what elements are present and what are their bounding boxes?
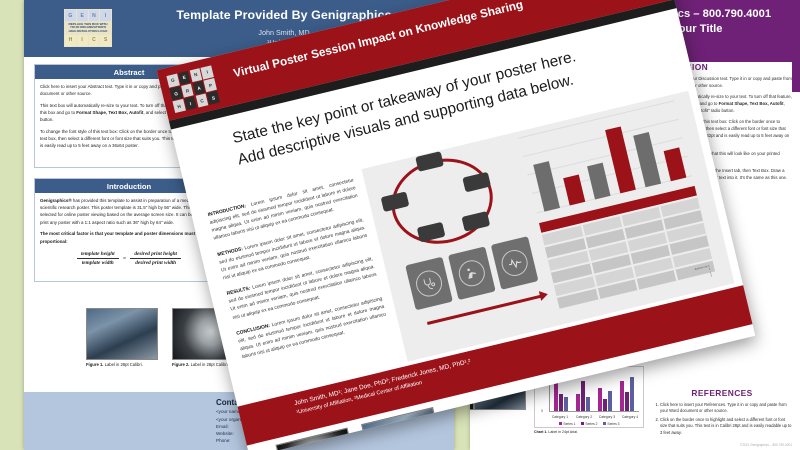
y-tick-label: 0	[541, 409, 543, 413]
chart-caption-label: Chart 1.	[534, 430, 547, 434]
references-list: Click here to insert your References. Ty…	[652, 402, 792, 436]
formula-numerator: template height	[77, 250, 119, 260]
reference-item: Click here to insert your References. Ty…	[660, 402, 792, 414]
logo-letter: C	[89, 35, 100, 46]
legend-swatch	[559, 422, 562, 425]
chart-caption: Chart 1. Label in 24pt Arial.	[534, 430, 578, 434]
x-tick-label: Category 4	[619, 415, 641, 419]
logo-letter: E	[77, 10, 88, 21]
bar-group	[620, 371, 634, 411]
genigraphics-logo-icon: G E N I REPLACE THIS BOX WITH YOUR ORGAN…	[64, 9, 112, 47]
logo-letter: I	[100, 10, 111, 21]
stethoscope-icon	[413, 268, 444, 299]
logo-letter: G	[65, 10, 76, 21]
formula-left: template height template width	[77, 250, 119, 268]
legend-swatch	[581, 422, 584, 425]
bar-series-2	[581, 381, 585, 411]
proportion-formula: template height template width = desired…	[40, 250, 218, 268]
legend-label: Series 2	[585, 422, 597, 426]
figure-1[interactable]: Figure 1. Label in 28pt Calibri.	[86, 308, 158, 360]
text-column-left[interactable]: INTRODUCTION: Lorem ipsum dolor sit amet…	[207, 177, 391, 370]
legend-item: Series 1	[559, 422, 576, 426]
paragraph: The most critical factor is that your te…	[40, 230, 218, 244]
bar-series-3	[564, 397, 568, 411]
chart-caption-text: Label in 24pt Arial.	[548, 430, 578, 434]
formula-equals: =	[120, 255, 129, 264]
bar-series-1	[554, 382, 558, 411]
reference-item: Click on the border once to highlight an…	[660, 417, 792, 435]
x-tick-label: Category 1	[549, 415, 571, 419]
legend-item: Series 2	[581, 422, 598, 426]
bar-series-1	[598, 388, 602, 411]
figure-label: Figure 1.	[86, 362, 103, 367]
logo-letter: S	[100, 35, 111, 46]
figure-caption-text: Label in 28pt Calibri.	[191, 362, 229, 367]
bar-series-3	[608, 391, 612, 411]
bar-series-1	[576, 394, 580, 411]
legend-item: Series 3	[603, 422, 620, 426]
bar-series-3	[630, 377, 634, 411]
logo-letter: H	[65, 35, 76, 46]
cpr-icon	[456, 258, 487, 289]
logo-letter: N	[89, 10, 100, 21]
x-tick-label: Category 3	[596, 415, 618, 419]
formula-right: desired print height desired print width	[130, 250, 181, 268]
figure-label: Figure 2.	[172, 362, 189, 367]
figure-caption-text: Label in 28pt Calibri.	[105, 362, 143, 367]
section-heading-references: REFERENCES	[652, 388, 792, 398]
legend-swatch	[603, 422, 606, 425]
chart-legend: Series 1 Series 2 Series 3	[535, 422, 643, 426]
heartbeat-icon	[499, 247, 530, 278]
bar-group	[598, 371, 612, 411]
screenshot-stage: G E N I REPLACE THIS BOX WITH YOUR ORGAN…	[0, 0, 800, 450]
poster-footer-note: ©2021 Genigraphics – 800.790.4001	[740, 443, 792, 447]
bar-series-2	[625, 392, 629, 411]
figure-1-caption: Figure 1. Label in 28pt Calibri.	[86, 362, 158, 367]
bar-series-2	[559, 394, 563, 411]
formula-denominator: template width	[77, 259, 119, 268]
legend-label: Series 3	[607, 422, 619, 426]
formula-numerator: desired print height	[130, 250, 181, 260]
bar-series-2	[603, 399, 607, 411]
logo-letter: I	[77, 35, 88, 46]
section-references[interactable]: REFERENCES Click here to insert your Ref…	[652, 388, 792, 439]
bar-series-3	[586, 397, 590, 411]
surgery-photo	[86, 308, 158, 360]
formula-denominator: desired print width	[130, 259, 181, 268]
legend-label: Series 1	[563, 422, 575, 426]
logo-replace-text: REPLACE THIS BOX WITH YOUR ORGANIZATION'…	[65, 22, 111, 33]
x-tick-label: Category 2	[573, 415, 595, 419]
bar-series-1	[620, 381, 624, 411]
